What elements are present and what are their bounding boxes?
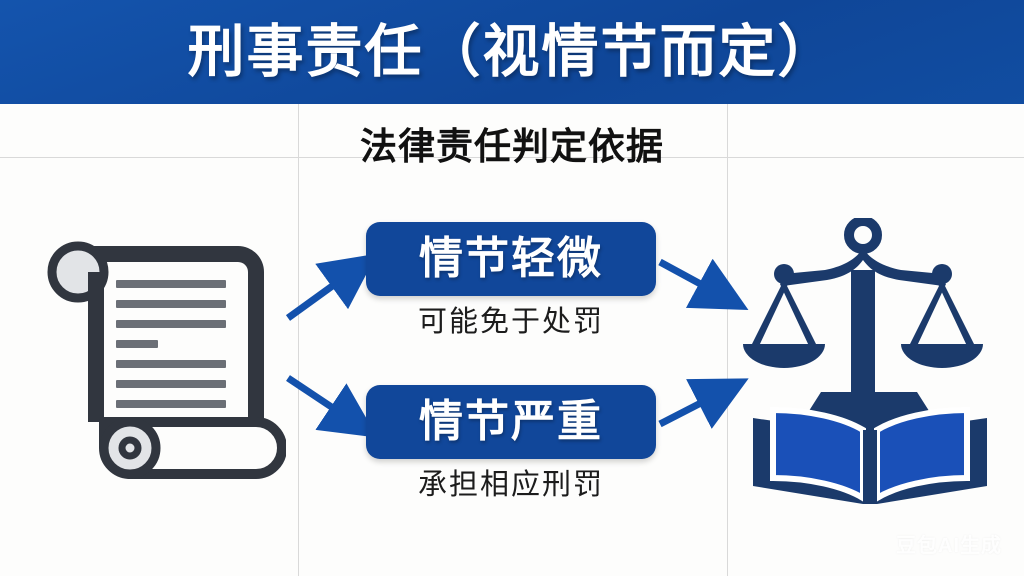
caption-severe-outcome: 承担相应刑罚 <box>336 470 686 502</box>
scroll-document-icon <box>34 238 286 482</box>
slide-canvas: 刑事责任（视情节而定） 法律责任判定依据 <box>0 0 1024 576</box>
caption-mild-outcome: 可能免于处罚 <box>336 307 686 339</box>
watermark-label: 豆包AI生成 <box>896 529 1002 558</box>
section-subtitle: 法律责任判定依据 <box>0 126 1024 169</box>
badge-mild-circumstance[interactable]: 情节轻微 <box>366 222 656 296</box>
header-banner: 刑事责任（视情节而定） <box>0 0 1024 104</box>
scales-of-justice-icon <box>739 218 1001 506</box>
guide-line-vertical-left <box>298 104 299 576</box>
arrow-severe-to-scales <box>660 388 730 424</box>
guide-line-vertical-right <box>727 104 728 576</box>
badge-severe-label: 情节严重 <box>419 400 603 444</box>
badge-mild-label: 情节轻微 <box>419 237 603 281</box>
arrow-mild-to-scales <box>660 262 730 300</box>
badge-severe-circumstance[interactable]: 情节严重 <box>366 385 656 459</box>
page-title: 刑事责任（视情节而定） <box>188 24 837 81</box>
